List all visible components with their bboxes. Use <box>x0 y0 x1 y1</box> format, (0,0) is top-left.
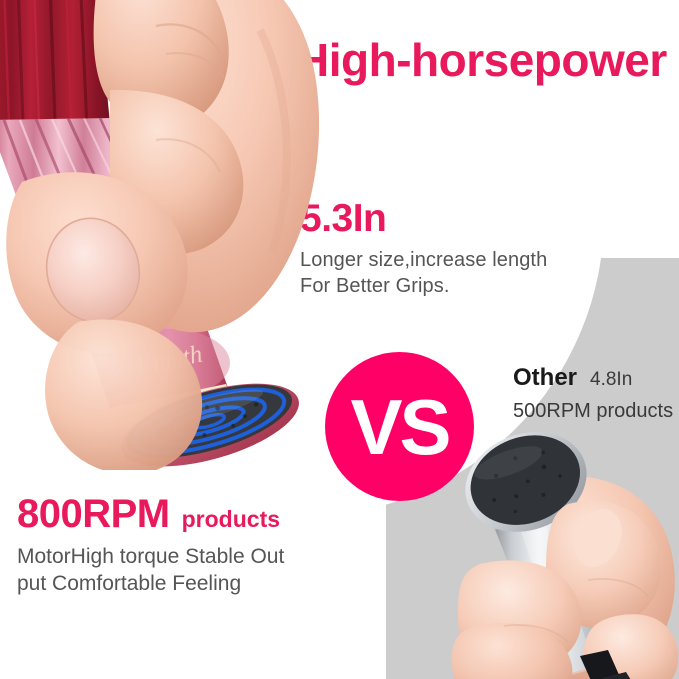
competitor-size-value: 4.8In <box>590 369 632 391</box>
product-image-featured: Kmuth <box>0 0 360 470</box>
featured-rpm-description: MotorHigh torque Stable Out put Comforta… <box>17 543 362 598</box>
featured-rpm-desc-line2: put Comfortable Feeling <box>17 570 362 597</box>
featured-rpm-desc-line1: MotorHigh torque Stable Out <box>17 543 362 570</box>
competitor-spec-block: Other 4.8In 500RPM products <box>513 364 673 423</box>
vs-badge-label: VS <box>325 352 474 501</box>
featured-rpm-row: 800RPM products <box>17 494 362 534</box>
competitor-spec-row: Other 4.8In <box>513 364 673 392</box>
competitor-rpm-text: 500RPM products <box>513 400 673 423</box>
featured-rpm-block: 800RPM products MotorHigh torque Stable … <box>17 494 362 598</box>
featured-rpm-unit: products <box>182 506 280 533</box>
vs-badge: VS <box>325 352 474 501</box>
featured-rpm-value: 800RPM <box>17 494 170 534</box>
product-comparison-infographic: Kmuth <box>0 0 679 679</box>
pink-callus-remover-in-hand: Kmuth <box>0 0 360 470</box>
competitor-label: Other <box>513 364 577 392</box>
fingers-competitor <box>452 501 678 679</box>
